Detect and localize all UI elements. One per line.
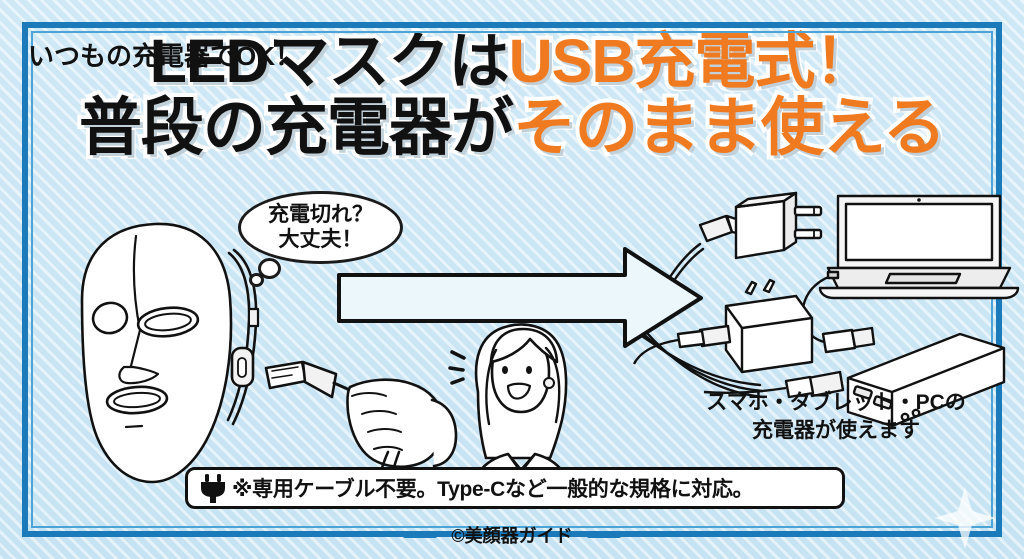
devices-caption: スマホ・タブレット・PCの 充電器が使えます [700,389,972,444]
devices-caption-line1: スマホ・タブレット・PCの [700,389,972,417]
note-text: ※専用ケーブル不要。Type-Cなど一般的な規格に対応。 [232,473,753,503]
speech-bubble-line1: 充電切れ？ [268,203,373,228]
arrow-label: いつもの充電器でOK！ [28,36,298,73]
usb-wall-charger-illustration [700,193,821,258]
title-line-2: 普段の充電器がそのまま使える [0,96,1024,160]
infographic-poster: いつもの充電器でOK！ 充電切れ？ 大丈夫！ LEDマスクはUSB充電式！ 普段… [0,0,1024,559]
footer-dash-left [403,533,437,538]
devices-caption-line2: 充電器が使えます [700,417,972,445]
footer-credit-text: ©美顔器ガイド [451,522,572,548]
title-line2-black: 普段の充電器が [79,93,513,163]
power-plug-icon [196,473,230,503]
speech-bubble-line2: 大丈夫！ [279,228,363,253]
title-line1-orange: USB充電式！ [509,27,875,95]
footer-dash-right [587,533,621,538]
arrow-banner [335,245,705,350]
speech-bubble-tail-small [249,273,264,287]
footer-credit: ©美顔器ガイド [0,522,1024,548]
right-arrow-shape [335,245,705,350]
laptop-illustration [802,196,1018,352]
speech-bubble: 充電切れ？ 大丈夫！ [238,191,403,264]
led-face-mask-illustration [82,224,258,482]
sparkle-lines [450,352,464,383]
note-bar: ※専用ケーブル不要。Type-Cなど一般的な規格に対応。 [185,467,845,509]
title-line2-orange: そのまま使える [513,93,945,163]
